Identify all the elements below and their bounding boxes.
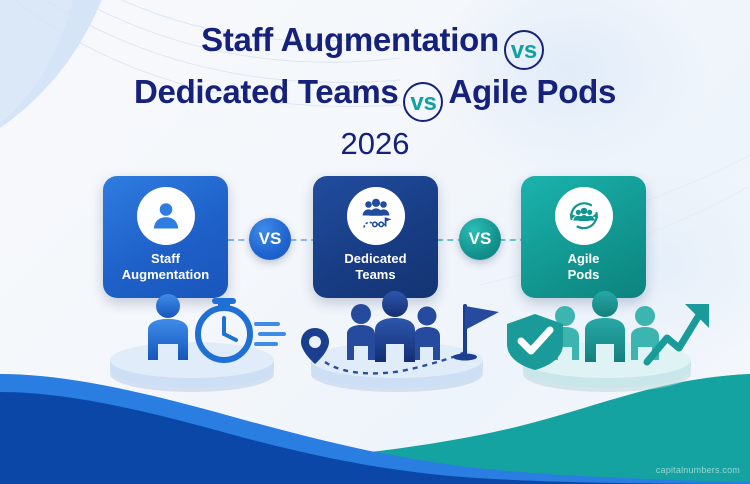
watermark-text: capitalnumbers.com — [656, 465, 740, 475]
title-line-2: Dedicated TeamsvsAgile Pods — [0, 70, 750, 122]
title-line-1: Staff Augmentationvs — [0, 18, 750, 70]
title-year: 2026 — [0, 124, 750, 164]
speed-lines — [256, 324, 284, 344]
card-label-line2: Pods — [568, 267, 600, 282]
team-cycle-arrows-icon — [555, 187, 613, 245]
card-label-line2: Teams — [355, 267, 395, 282]
team-with-shield-and-growth-illustration — [495, 282, 725, 392]
card-staff-augmentation[interactable]: Staff Augmentation — [103, 176, 228, 298]
person-with-stopwatch-illustration — [80, 282, 310, 392]
card-label-agile-pods: Agile Pods — [521, 251, 646, 283]
card-dedicated-teams[interactable]: Dedicated Teams — [313, 176, 438, 298]
title-text-dedicated-teams: Dedicated Teams — [134, 73, 399, 110]
card-label-line2: Augmentation — [122, 267, 209, 282]
team-with-flag-and-pin-illustration — [285, 282, 515, 392]
card-label-line1: Staff — [151, 251, 180, 266]
infographic-canvas: Staff Augmentationvs Dedicated TeamsvsAg… — [0, 0, 750, 484]
card-label-line1: Agile — [568, 251, 600, 266]
title-text-staff-augmentation: Staff Augmentation — [201, 21, 499, 58]
vs-badge-1: VS — [249, 218, 291, 260]
title-vs-badge-1: vs — [504, 30, 544, 70]
title-text-agile-pods: Agile Pods — [448, 73, 616, 110]
vs-badge-2: VS — [459, 218, 501, 260]
card-label-staff-augmentation: Staff Augmentation — [103, 251, 228, 283]
team-roadmap-icon — [347, 187, 405, 245]
title-block: Staff Augmentationvs Dedicated TeamsvsAg… — [0, 18, 750, 164]
card-label-line1: Dedicated — [344, 251, 406, 266]
card-label-dedicated-teams: Dedicated Teams — [313, 251, 438, 283]
single-person-icon — [137, 187, 195, 245]
card-agile-pods[interactable]: Agile Pods — [521, 176, 646, 298]
title-vs-badge-2: vs — [403, 82, 443, 122]
